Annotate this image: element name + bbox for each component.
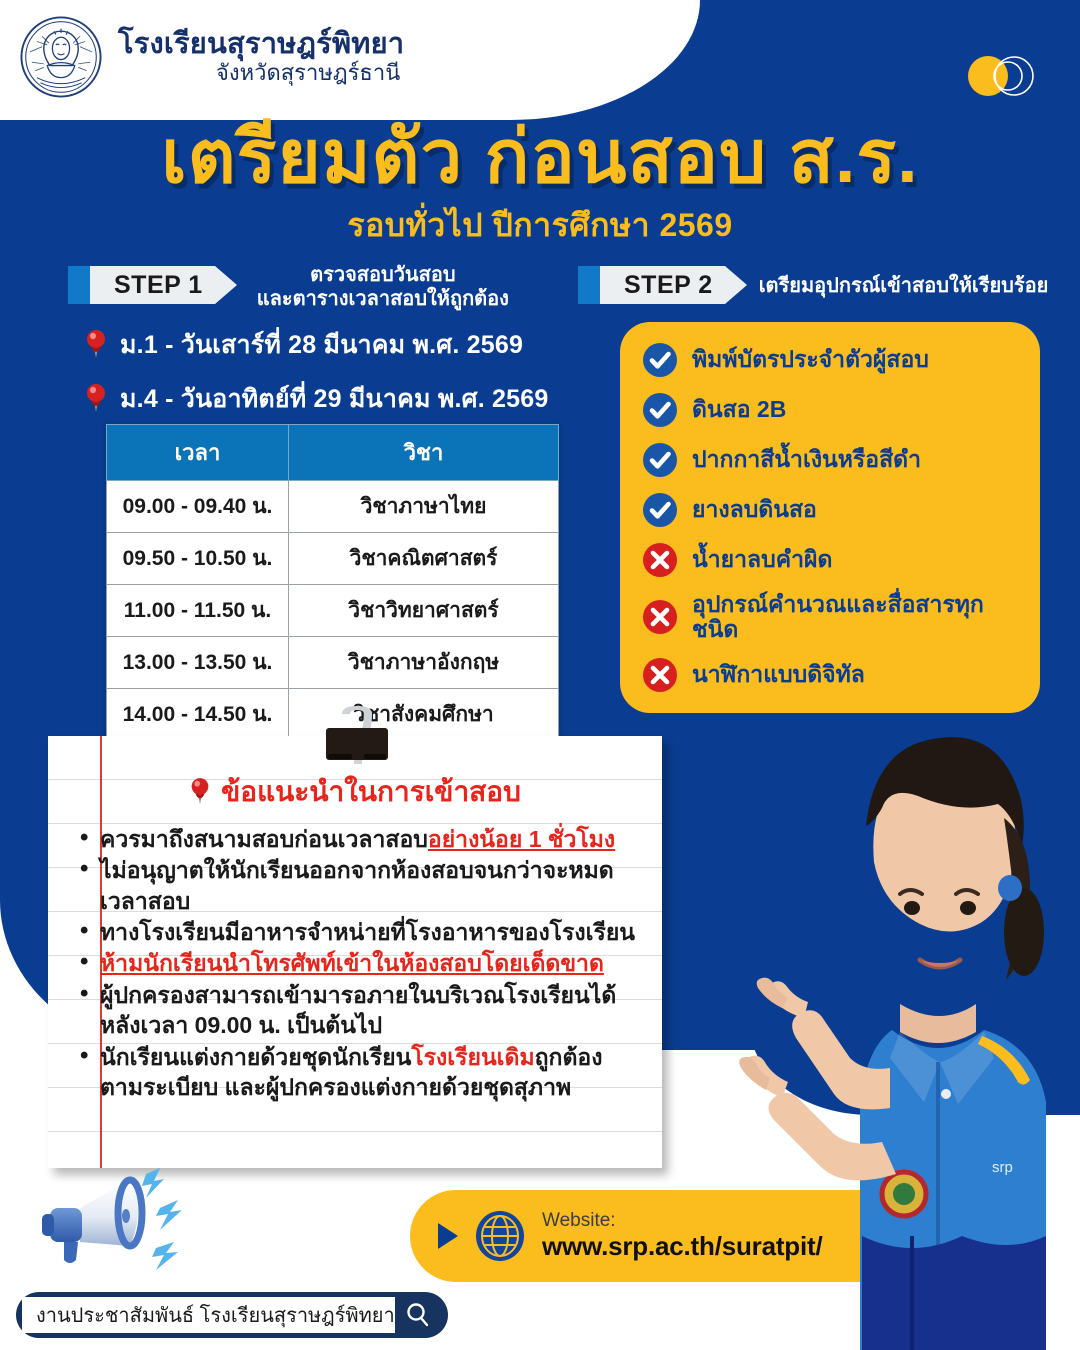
- step2-header: STEP 2 เตรียมอุปกรณ์เข้าสอบให้เรียบร้อย: [578, 266, 1048, 304]
- guideline-pre: ผู้ปกครองสามารถเข้ามารอภายในบริเวณโรงเรี…: [100, 982, 616, 1038]
- guideline-item: ควรมาถึงสนามสอบก่อนเวลาสอบอย่างน้อย 1 ชั…: [100, 824, 642, 854]
- cell-subject: วิชาคณิตศาสตร์: [289, 533, 559, 585]
- step1-badge: STEP 1: [68, 266, 237, 304]
- play-triangle-icon: [438, 1223, 458, 1249]
- cell-subject: วิชาภาษาไทย: [289, 481, 559, 533]
- search-button[interactable]: [395, 1297, 442, 1333]
- svg-text:srp: srp: [992, 1159, 1013, 1176]
- table-header-subject: วิชา: [289, 425, 559, 481]
- school-emblem-icon: [18, 14, 104, 100]
- exam-date-text: ม.1 - วันเสาร์ที่ 28 มีนาคม พ.ศ. 2569: [120, 325, 523, 365]
- exam-date-row: ม.4 - วันอาทิตย์ที่ 29 มีนาคม พ.ศ. 2569: [82, 379, 548, 419]
- cross-icon: [642, 599, 678, 635]
- step2-caption: เตรียมอุปกรณ์เข้าสอบให้เรียบร้อย: [759, 269, 1049, 301]
- cross-icon: [642, 542, 678, 578]
- exam-guidelines-card: ข้อแนะนำในการเข้าสอบ ควรมาถึงสนามสอบก่อน…: [48, 736, 662, 1168]
- step1-header: STEP 1 ตรวจสอบวันสอบ และตารางเวลาสอบให้ถ…: [68, 266, 548, 311]
- notes-title: ข้อแนะนำในการเข้าสอบ: [221, 770, 521, 814]
- cell-time: 13.00 - 13.50 น.: [107, 637, 289, 689]
- search-icon: [405, 1302, 431, 1328]
- check-icon: [642, 392, 678, 428]
- pushpin-icon: [82, 328, 110, 362]
- checklist-item: ปากกาสีน้ำเงินหรือสีดำ: [642, 442, 1022, 478]
- pushpin-icon: [187, 776, 213, 808]
- step1-badge-label: STEP 1: [114, 271, 203, 300]
- guidelines-list: ควรมาถึงสนามสอบก่อนเวลาสอบอย่างน้อย 1 ชั…: [62, 824, 646, 1102]
- checklist-label: ปากกาสีน้ำเงินหรือสีดำ: [692, 447, 921, 472]
- checklist-item: ยางลบดินสอ: [642, 492, 1022, 528]
- megaphone-icon: [34, 1168, 194, 1296]
- check-icon: [642, 492, 678, 528]
- guideline-pre: ไม่อนุญาตให้นักเรียนออกจากห้องสอบจนกว่าจ…: [100, 857, 614, 913]
- search-bar[interactable]: งานประชาสัมพันธ์ โรงเรียนสุราษฎร์พิทยา: [16, 1292, 448, 1338]
- guideline-item: ห้ามนักเรียนนำโทรศัพท์เข้าในห้องสอบโดยเด…: [100, 948, 642, 978]
- student-photo: srp: [724, 612, 1054, 1350]
- guideline-highlight: ห้ามนักเรียนนำโทรศัพท์เข้าในห้องสอบโดยเด…: [100, 950, 604, 976]
- exam-date-row: ม.1 - วันเสาร์ที่ 28 มีนาคม พ.ศ. 2569: [82, 325, 548, 365]
- cell-time: 09.00 - 09.40 น.: [107, 481, 289, 533]
- check-icon: [642, 442, 678, 478]
- cell-subject: วิชาภาษาอังกฤษ: [289, 637, 559, 689]
- title-block: เตรียมตัว ก่อนสอบ ส.ร. รอบทั่วไป ปีการศึ…: [0, 120, 1080, 251]
- table-row: 11.00 - 11.50 น. วิชาวิทยาศาสตร์: [107, 585, 559, 637]
- step1-caption-line2: และตารางเวลาสอบให้ถูกต้อง: [257, 288, 509, 312]
- school-name-group: โรงเรียนสุราษฎร์พิทยา จังหวัดสุราษฎร์ธาน…: [118, 28, 404, 85]
- checklist-label: ดินสอ 2B: [692, 397, 786, 422]
- step1-caption: ตรวจสอบวันสอบ และตารางเวลาสอบให้ถูกต้อง: [257, 264, 509, 311]
- guideline-pre: ทางโรงเรียนมีอาหารจำหน่ายที่โรงอาหารของโ…: [100, 919, 635, 945]
- header: โรงเรียนสุราษฎร์พิทยา จังหวัดสุราษฎร์ธาน…: [18, 14, 404, 100]
- notes-content: ข้อแนะนำในการเข้าสอบ ควรมาถึงสนามสอบก่อน…: [48, 736, 662, 1102]
- step2-badge-label: STEP 2: [624, 271, 713, 300]
- cross-icon: [642, 657, 678, 693]
- table-row: 09.50 - 10.50 น. วิชาคณิตศาสตร์: [107, 533, 559, 585]
- step2-badge-body: STEP 2: [600, 266, 747, 304]
- cell-time: 14.00 - 14.50 น.: [107, 689, 289, 741]
- step1-badge-cap: [68, 266, 90, 304]
- step2-badge-cap: [578, 266, 600, 304]
- checklist-label: ยางลบดินสอ: [692, 497, 817, 522]
- checklist-item: พิมพ์บัตรประจำตัวผู้สอบ: [642, 342, 1022, 378]
- cell-time: 09.50 - 10.50 น.: [107, 533, 289, 585]
- pushpin-icon: [82, 382, 110, 416]
- guideline-highlight: โรงเรียนเดิม: [411, 1044, 534, 1070]
- guideline-item: ผู้ปกครองสามารถเข้ามารอภายในบริเวณโรงเรี…: [100, 980, 642, 1041]
- table-row: 09.00 - 09.40 น. วิชาภาษาไทย: [107, 481, 559, 533]
- exam-schedule-table: เวลา วิชา 09.00 - 09.40 น. วิชาภาษาไทย 0…: [106, 424, 559, 741]
- step1-section: STEP 1 ตรวจสอบวันสอบ และตารางเวลาสอบให้ถ…: [68, 266, 548, 419]
- guideline-item: ไม่อนุญาตให้นักเรียนออกจากห้องสอบจนกว่าจ…: [100, 855, 642, 916]
- overlapping-circles-decoration: [964, 55, 1040, 97]
- exam-date-text: ม.4 - วันอาทิตย์ที่ 29 มีนาคม พ.ศ. 2569: [120, 379, 548, 419]
- cell-subject: วิชาวิทยาศาสตร์: [289, 585, 559, 637]
- checklist-label: น้ำยาลบคำผิด: [692, 547, 832, 572]
- globe-icon: [474, 1210, 526, 1262]
- guideline-item: นักเรียนแต่งกายด้วยชุดนักเรียนโรงเรียนเด…: [100, 1042, 642, 1103]
- step2-badge: STEP 2: [578, 266, 747, 304]
- search-input-value: งานประชาสัมพันธ์ โรงเรียนสุราษฎร์พิทยา: [36, 1299, 395, 1331]
- table-row: 13.00 - 13.50 น. วิชาภาษาอังกฤษ: [107, 637, 559, 689]
- poster-root: โรงเรียนสุราษฎร์พิทยา จังหวัดสุราษฎร์ธาน…: [0, 0, 1080, 1350]
- page-title: เตรียมตัว ก่อนสอบ ส.ร.: [0, 120, 1080, 194]
- school-name: โรงเรียนสุราษฎร์พิทยา: [118, 28, 404, 60]
- checklist-label: พิมพ์บัตรประจำตัวผู้สอบ: [692, 347, 929, 372]
- search-input[interactable]: งานประชาสัมพันธ์ โรงเรียนสุราษฎร์พิทยา: [22, 1297, 395, 1333]
- checklist-item: ดินสอ 2B: [642, 392, 1022, 428]
- guideline-item: ทางโรงเรียนมีอาหารจำหน่ายที่โรงอาหารของโ…: [100, 917, 642, 947]
- guideline-pre: นักเรียนแต่งกายด้วยชุดนักเรียน: [100, 1044, 411, 1070]
- checklist-item: น้ำยาลบคำผิด: [642, 542, 1022, 578]
- notes-title-row: ข้อแนะนำในการเข้าสอบ: [62, 770, 646, 814]
- table-header-row: เวลา วิชา: [107, 425, 559, 481]
- cell-time: 11.00 - 11.50 น.: [107, 585, 289, 637]
- school-province: จังหวัดสุราษฎร์ธานี: [118, 61, 404, 86]
- page-subtitle: รอบทั่วไป ปีการศึกษา 2569: [0, 200, 1080, 251]
- table-header-time: เวลา: [107, 425, 289, 481]
- step1-badge-body: STEP 1: [90, 266, 237, 304]
- step1-caption-line1: ตรวจสอบวันสอบ: [257, 264, 509, 288]
- guideline-pre: ควรมาถึงสนามสอบก่อนเวลาสอบ: [100, 826, 428, 852]
- guideline-highlight: อย่างน้อย 1 ชั่วโมง: [428, 826, 615, 852]
- check-icon: [642, 342, 678, 378]
- binder-clip-icon: [318, 706, 396, 768]
